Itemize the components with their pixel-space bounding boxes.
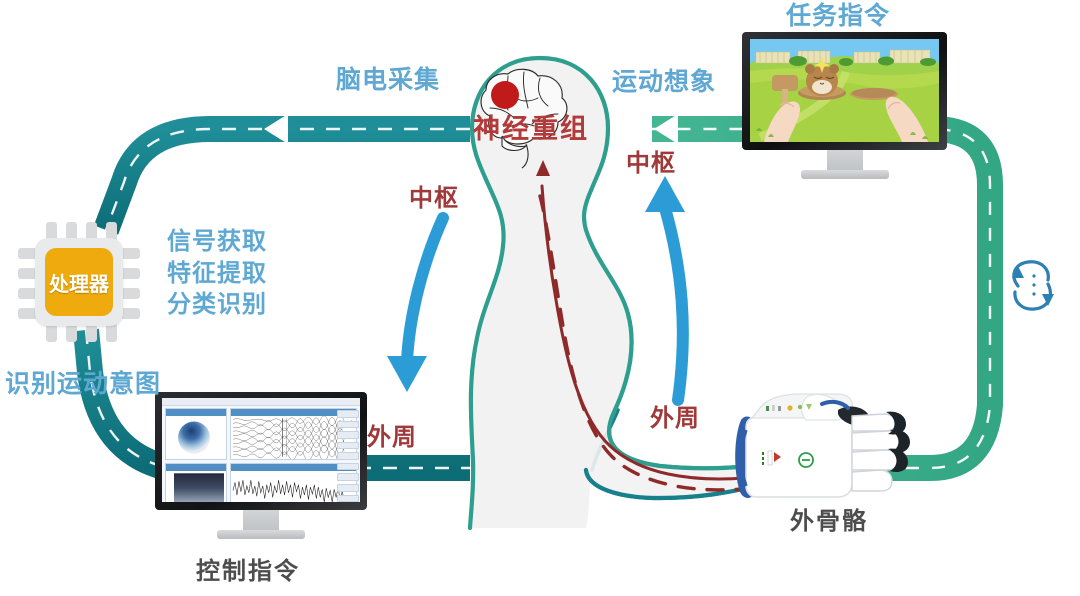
- robotic-hand-icon[interactable]: [735, 394, 910, 498]
- label-neural-reorganization: 神经重组: [473, 114, 589, 145]
- label-motor-imagery: 运动想象: [612, 68, 716, 97]
- label-eeg-acquisition: 脑电采集: [336, 66, 440, 95]
- label-peripheral-right: 外周: [650, 405, 700, 433]
- processing-step-1: 信号获取: [167, 228, 267, 256]
- label-central-left: 中枢: [409, 185, 459, 213]
- processing-step-2: 特征提取: [167, 260, 267, 288]
- diagram-canvas: 处理器: [0, 0, 1080, 596]
- processing-steps-list: 信号获取 特征提取 分类识别: [167, 228, 267, 323]
- label-exoskeleton: 外骨骼: [790, 508, 868, 536]
- robotic-fingers: [852, 412, 910, 491]
- label-central-right: 中枢: [626, 150, 676, 178]
- label-recognize-intent: 识别运动意图: [5, 370, 161, 399]
- exoskeleton-layer: [0, 0, 1080, 596]
- label-control-command: 控制指令: [196, 558, 300, 586]
- label-peripheral-left: 外周: [367, 424, 417, 452]
- label-task-instruction: 任务指令: [786, 2, 890, 31]
- processing-step-3: 分类识别: [167, 291, 267, 319]
